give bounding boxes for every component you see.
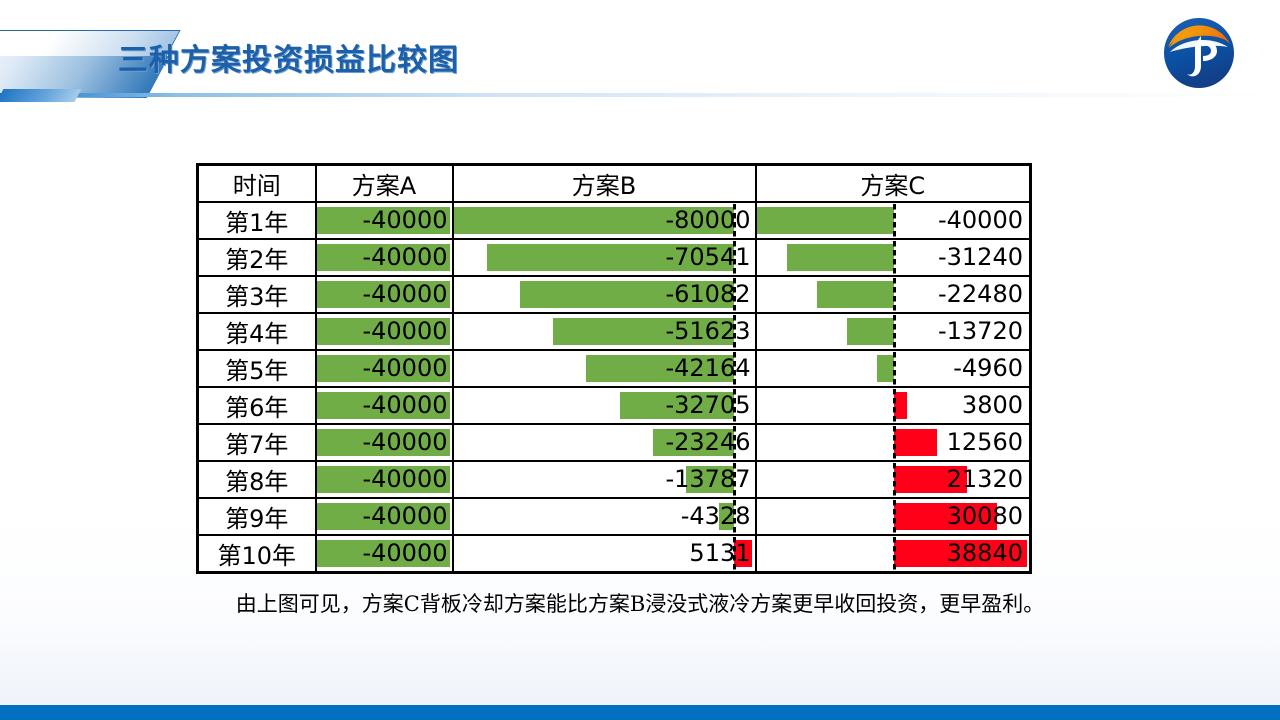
bar-cell-b: -51623 <box>453 313 756 350</box>
bar-cell-b: -4328 <box>453 498 756 535</box>
bar-cell-b: -42164 <box>453 350 756 387</box>
bar-cell-a: -40000 <box>316 461 453 498</box>
cell-value: -40000 <box>317 277 452 312</box>
cell-value: -40000 <box>317 425 452 460</box>
bar-cell-a: -40000 <box>316 350 453 387</box>
investment-comparison-table: 时间 方案A 方案B 方案C 第1年-40000-80000-40000第2年-… <box>196 163 1032 574</box>
company-logo-icon <box>1160 14 1238 92</box>
slide-caption: 由上图可见，方案C背板冷却方案能比方案B浸没式液冷方案更早收回投资，更早盈利。 <box>0 588 1280 618</box>
cell-value: 21320 <box>757 462 1030 497</box>
bar-cell-b: -32705 <box>453 387 756 424</box>
row-label-year: 第2年 <box>198 239 316 276</box>
row-label-year: 第6年 <box>198 387 316 424</box>
cell-value: -4328 <box>454 499 755 534</box>
bar-cell-a: -40000 <box>316 498 453 535</box>
cell-value: -40000 <box>757 203 1030 238</box>
header-divider-accent <box>0 89 81 102</box>
footer-bar <box>0 705 1280 720</box>
page-title: 三种方案投资损益比较图 <box>118 35 459 79</box>
bar-cell-c: 3800 <box>756 387 1031 424</box>
column-header-time: 时间 <box>198 165 316 203</box>
cell-value: 12560 <box>757 425 1030 460</box>
bar-cell-a: -40000 <box>316 535 453 573</box>
column-header-plan-c: 方案C <box>756 165 1031 203</box>
table-row: 第9年-40000-432830080 <box>198 498 1031 535</box>
cell-value: -80000 <box>454 203 755 238</box>
row-label-year: 第5年 <box>198 350 316 387</box>
bar-cell-c: 30080 <box>756 498 1031 535</box>
bar-cell-c: -22480 <box>756 276 1031 313</box>
bar-cell-c: -13720 <box>756 313 1031 350</box>
row-label-year: 第7年 <box>198 424 316 461</box>
row-label-year: 第4年 <box>198 313 316 350</box>
cell-value: -13720 <box>757 314 1030 349</box>
bar-cell-a: -40000 <box>316 202 453 239</box>
table-row: 第1年-40000-80000-40000 <box>198 202 1031 239</box>
cell-value: -40000 <box>317 462 452 497</box>
bar-cell-a: -40000 <box>316 239 453 276</box>
bar-cell-c: 38840 <box>756 535 1031 573</box>
cell-value: -40000 <box>317 536 452 571</box>
table-header-row: 时间 方案A 方案B 方案C <box>198 165 1031 203</box>
bar-cell-c: 12560 <box>756 424 1031 461</box>
bar-cell-c: 21320 <box>756 461 1031 498</box>
cell-value: -42164 <box>454 351 755 386</box>
cell-value: 38840 <box>757 536 1030 571</box>
cell-value: -40000 <box>317 499 452 534</box>
company-logo <box>1160 14 1238 92</box>
row-label-year: 第1年 <box>198 202 316 239</box>
bar-cell-b: 5131 <box>453 535 756 573</box>
bar-cell-c: -31240 <box>756 239 1031 276</box>
cell-value: -40000 <box>317 388 452 423</box>
table-body: 第1年-40000-80000-40000第2年-40000-70541-312… <box>198 202 1031 573</box>
header-divider <box>0 93 1280 97</box>
cell-value: -22480 <box>757 277 1030 312</box>
table-row: 第7年-40000-2324612560 <box>198 424 1031 461</box>
table-row: 第6年-40000-327053800 <box>198 387 1031 424</box>
cell-value: -23246 <box>454 425 755 460</box>
cell-value: 3800 <box>757 388 1030 423</box>
cell-value: -40000 <box>317 203 452 238</box>
cell-value: 30080 <box>757 499 1030 534</box>
cell-value: -61082 <box>454 277 755 312</box>
bar-cell-b: -70541 <box>453 239 756 276</box>
bar-cell-c: -4960 <box>756 350 1031 387</box>
row-label-year: 第9年 <box>198 498 316 535</box>
bar-cell-a: -40000 <box>316 313 453 350</box>
cell-value: -31240 <box>757 240 1030 275</box>
cell-value: -13787 <box>454 462 755 497</box>
bar-cell-b: -23246 <box>453 424 756 461</box>
cell-value: -70541 <box>454 240 755 275</box>
cell-value: -40000 <box>317 314 452 349</box>
slide-header: 三种方案投资损益比较图 <box>0 0 1280 103</box>
table-row: 第3年-40000-61082-22480 <box>198 276 1031 313</box>
row-label-year: 第8年 <box>198 461 316 498</box>
cell-value: -32705 <box>454 388 755 423</box>
bar-cell-a: -40000 <box>316 424 453 461</box>
cell-value: -4960 <box>757 351 1030 386</box>
column-header-plan-a: 方案A <box>316 165 453 203</box>
row-label-year: 第3年 <box>198 276 316 313</box>
row-label-year: 第10年 <box>198 535 316 573</box>
bar-cell-b: -13787 <box>453 461 756 498</box>
table-row: 第5年-40000-42164-4960 <box>198 350 1031 387</box>
bar-cell-b: -80000 <box>453 202 756 239</box>
cell-value: 5131 <box>454 536 755 571</box>
table-row: 第10年-40000513138840 <box>198 535 1031 573</box>
cell-value: -40000 <box>317 240 452 275</box>
bar-cell-a: -40000 <box>316 276 453 313</box>
cell-value: -40000 <box>317 351 452 386</box>
table-row: 第2年-40000-70541-31240 <box>198 239 1031 276</box>
table-row: 第8年-40000-1378721320 <box>198 461 1031 498</box>
column-header-plan-b: 方案B <box>453 165 756 203</box>
bar-cell-b: -61082 <box>453 276 756 313</box>
table-row: 第4年-40000-51623-13720 <box>198 313 1031 350</box>
bar-cell-a: -40000 <box>316 387 453 424</box>
bar-cell-c: -40000 <box>756 202 1031 239</box>
cell-value: -51623 <box>454 314 755 349</box>
